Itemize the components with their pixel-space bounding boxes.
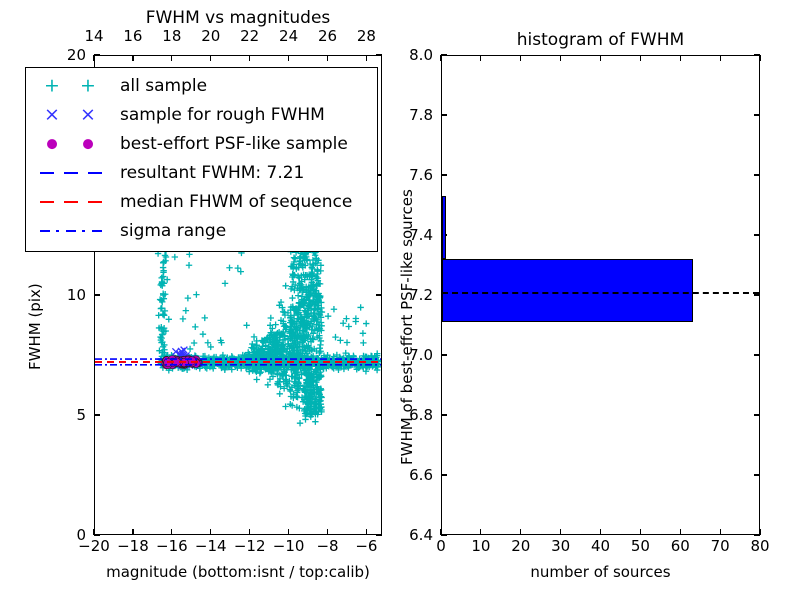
legend-item-label: best-effort PSF-like sample bbox=[120, 134, 348, 154]
left-xtick-label: −12 bbox=[234, 537, 266, 555]
legend-marker-circle-icon: ●● bbox=[30, 131, 116, 157]
axis-tick bbox=[94, 294, 100, 295]
right-xtick-label: 80 bbox=[750, 537, 769, 555]
axis-tick bbox=[366, 55, 367, 61]
right-xtick-label: 0 bbox=[436, 537, 446, 555]
axis-tick bbox=[288, 529, 289, 535]
left-xtick-label: −14 bbox=[195, 537, 227, 555]
right-xtick-label: 10 bbox=[471, 537, 490, 555]
axis-tick bbox=[94, 54, 100, 55]
left-xlabel: magnitude (bottom:isnt / top:calib) bbox=[74, 563, 402, 581]
left-ylabel: FWHM (pix) bbox=[26, 283, 44, 370]
right-xtick-label: 60 bbox=[671, 537, 690, 555]
legend-marker-dashdot-icon bbox=[30, 218, 116, 244]
right-xtick-label: 40 bbox=[591, 537, 610, 555]
right-xtick-label: 30 bbox=[551, 537, 570, 555]
axis-tick bbox=[366, 529, 367, 535]
legend-line bbox=[40, 230, 106, 232]
right-ylabel: FWHM of best-effort PSF-like sources bbox=[398, 189, 416, 465]
axis-tick bbox=[249, 55, 250, 61]
legend-glyph: × bbox=[44, 106, 60, 125]
legend: ++all sample××sample for rough FWHM●●bes… bbox=[25, 67, 378, 252]
left-top-xtick-label: 28 bbox=[357, 27, 376, 45]
legend-glyph: + bbox=[80, 77, 96, 96]
legend-glyph: ● bbox=[46, 138, 57, 151]
legend-item: ●●best-effort PSF-like sample bbox=[30, 130, 348, 158]
right-ytick-label: 6.4 bbox=[409, 526, 433, 544]
axis-tick bbox=[132, 529, 133, 535]
axis-tick bbox=[210, 55, 211, 61]
left-xtick-label: −10 bbox=[273, 537, 305, 555]
right-panel-title: histogram of FWHM bbox=[441, 30, 760, 50]
axis-tick bbox=[376, 294, 382, 295]
legend-marker-dashed-icon bbox=[30, 160, 116, 186]
left-xtick-label: −18 bbox=[117, 537, 149, 555]
axis-tick bbox=[376, 534, 382, 535]
legend-marker-plus-icon: ++ bbox=[30, 73, 116, 99]
axis-tick bbox=[376, 414, 382, 415]
right-ytick-label: 7.6 bbox=[409, 166, 433, 184]
axis-tick bbox=[327, 55, 328, 61]
figure-canvas: FWHM vs magnitudes 1416182022242628 −20−… bbox=[0, 0, 800, 600]
axis-tick bbox=[249, 529, 250, 535]
resultant-fwhm-line bbox=[442, 292, 759, 294]
left-top-xtick-label: 16 bbox=[123, 27, 142, 45]
left-ytick-label: 0 bbox=[76, 526, 86, 544]
left-top-xtick-label: 22 bbox=[240, 27, 259, 45]
right-xtick-label: 70 bbox=[711, 537, 730, 555]
legend-glyph: × bbox=[80, 106, 96, 125]
right-xtick-label: 50 bbox=[631, 537, 650, 555]
right-xtick-label: 20 bbox=[511, 537, 530, 555]
right-ytick-label: 8.0 bbox=[409, 46, 433, 64]
axis-tick bbox=[327, 529, 328, 535]
left-ytick-label: 5 bbox=[76, 406, 86, 424]
legend-item-label: sample for rough FWHM bbox=[120, 105, 325, 125]
axis-tick bbox=[132, 55, 133, 61]
legend-glyph: + bbox=[44, 77, 60, 96]
left-top-xtick-label: 26 bbox=[318, 27, 337, 45]
axis-tick bbox=[210, 529, 211, 535]
left-ytick-label: 20 bbox=[67, 46, 86, 64]
right-ytick-label: 6.6 bbox=[409, 466, 433, 484]
right-ytick-label: 7.8 bbox=[409, 106, 433, 124]
legend-item-label: median FHWM of sequence bbox=[120, 192, 352, 212]
legend-item: ××sample for rough FWHM bbox=[30, 101, 325, 129]
left-ytick-label: 10 bbox=[67, 286, 86, 304]
legend-marker-cross-icon: ×× bbox=[30, 102, 116, 128]
legend-line bbox=[40, 172, 106, 174]
legend-item: ++all sample bbox=[30, 72, 207, 100]
legend-item-label: all sample bbox=[120, 76, 207, 96]
legend-item: median FHWM of sequence bbox=[30, 188, 352, 216]
axis-tick bbox=[93, 55, 94, 61]
legend-item: sigma range bbox=[30, 217, 226, 245]
right-xlabel: number of sources bbox=[441, 563, 760, 581]
axis-tick bbox=[376, 54, 382, 55]
left-top-xtick-label: 24 bbox=[279, 27, 298, 45]
axis-tick bbox=[94, 414, 100, 415]
left-xtick-label: −16 bbox=[156, 537, 188, 555]
axis-tick bbox=[171, 529, 172, 535]
axis-tick bbox=[94, 534, 100, 535]
legend-line bbox=[40, 201, 106, 203]
histogram-bar bbox=[442, 259, 693, 322]
axis-tick bbox=[171, 55, 172, 61]
legend-item: resultant FWHM: 7.21 bbox=[30, 159, 304, 187]
left-top-xtick-label: 20 bbox=[201, 27, 220, 45]
left-top-xtick-label: 18 bbox=[162, 27, 181, 45]
right-plot-frame bbox=[441, 55, 760, 535]
histogram-bar bbox=[442, 196, 446, 259]
left-panel-title: FWHM vs magnitudes bbox=[94, 8, 382, 28]
left-xtick-label: −8 bbox=[316, 537, 338, 555]
axis-tick bbox=[288, 55, 289, 61]
legend-item-label: sigma range bbox=[120, 221, 226, 241]
left-xtick-label: −6 bbox=[355, 537, 377, 555]
legend-marker-dashed-icon bbox=[30, 189, 116, 215]
legend-item-label: resultant FWHM: 7.21 bbox=[120, 163, 304, 183]
left-top-xtick-label: 14 bbox=[84, 27, 103, 45]
histogram-bars-layer bbox=[442, 56, 759, 534]
legend-glyph: ● bbox=[82, 138, 93, 151]
